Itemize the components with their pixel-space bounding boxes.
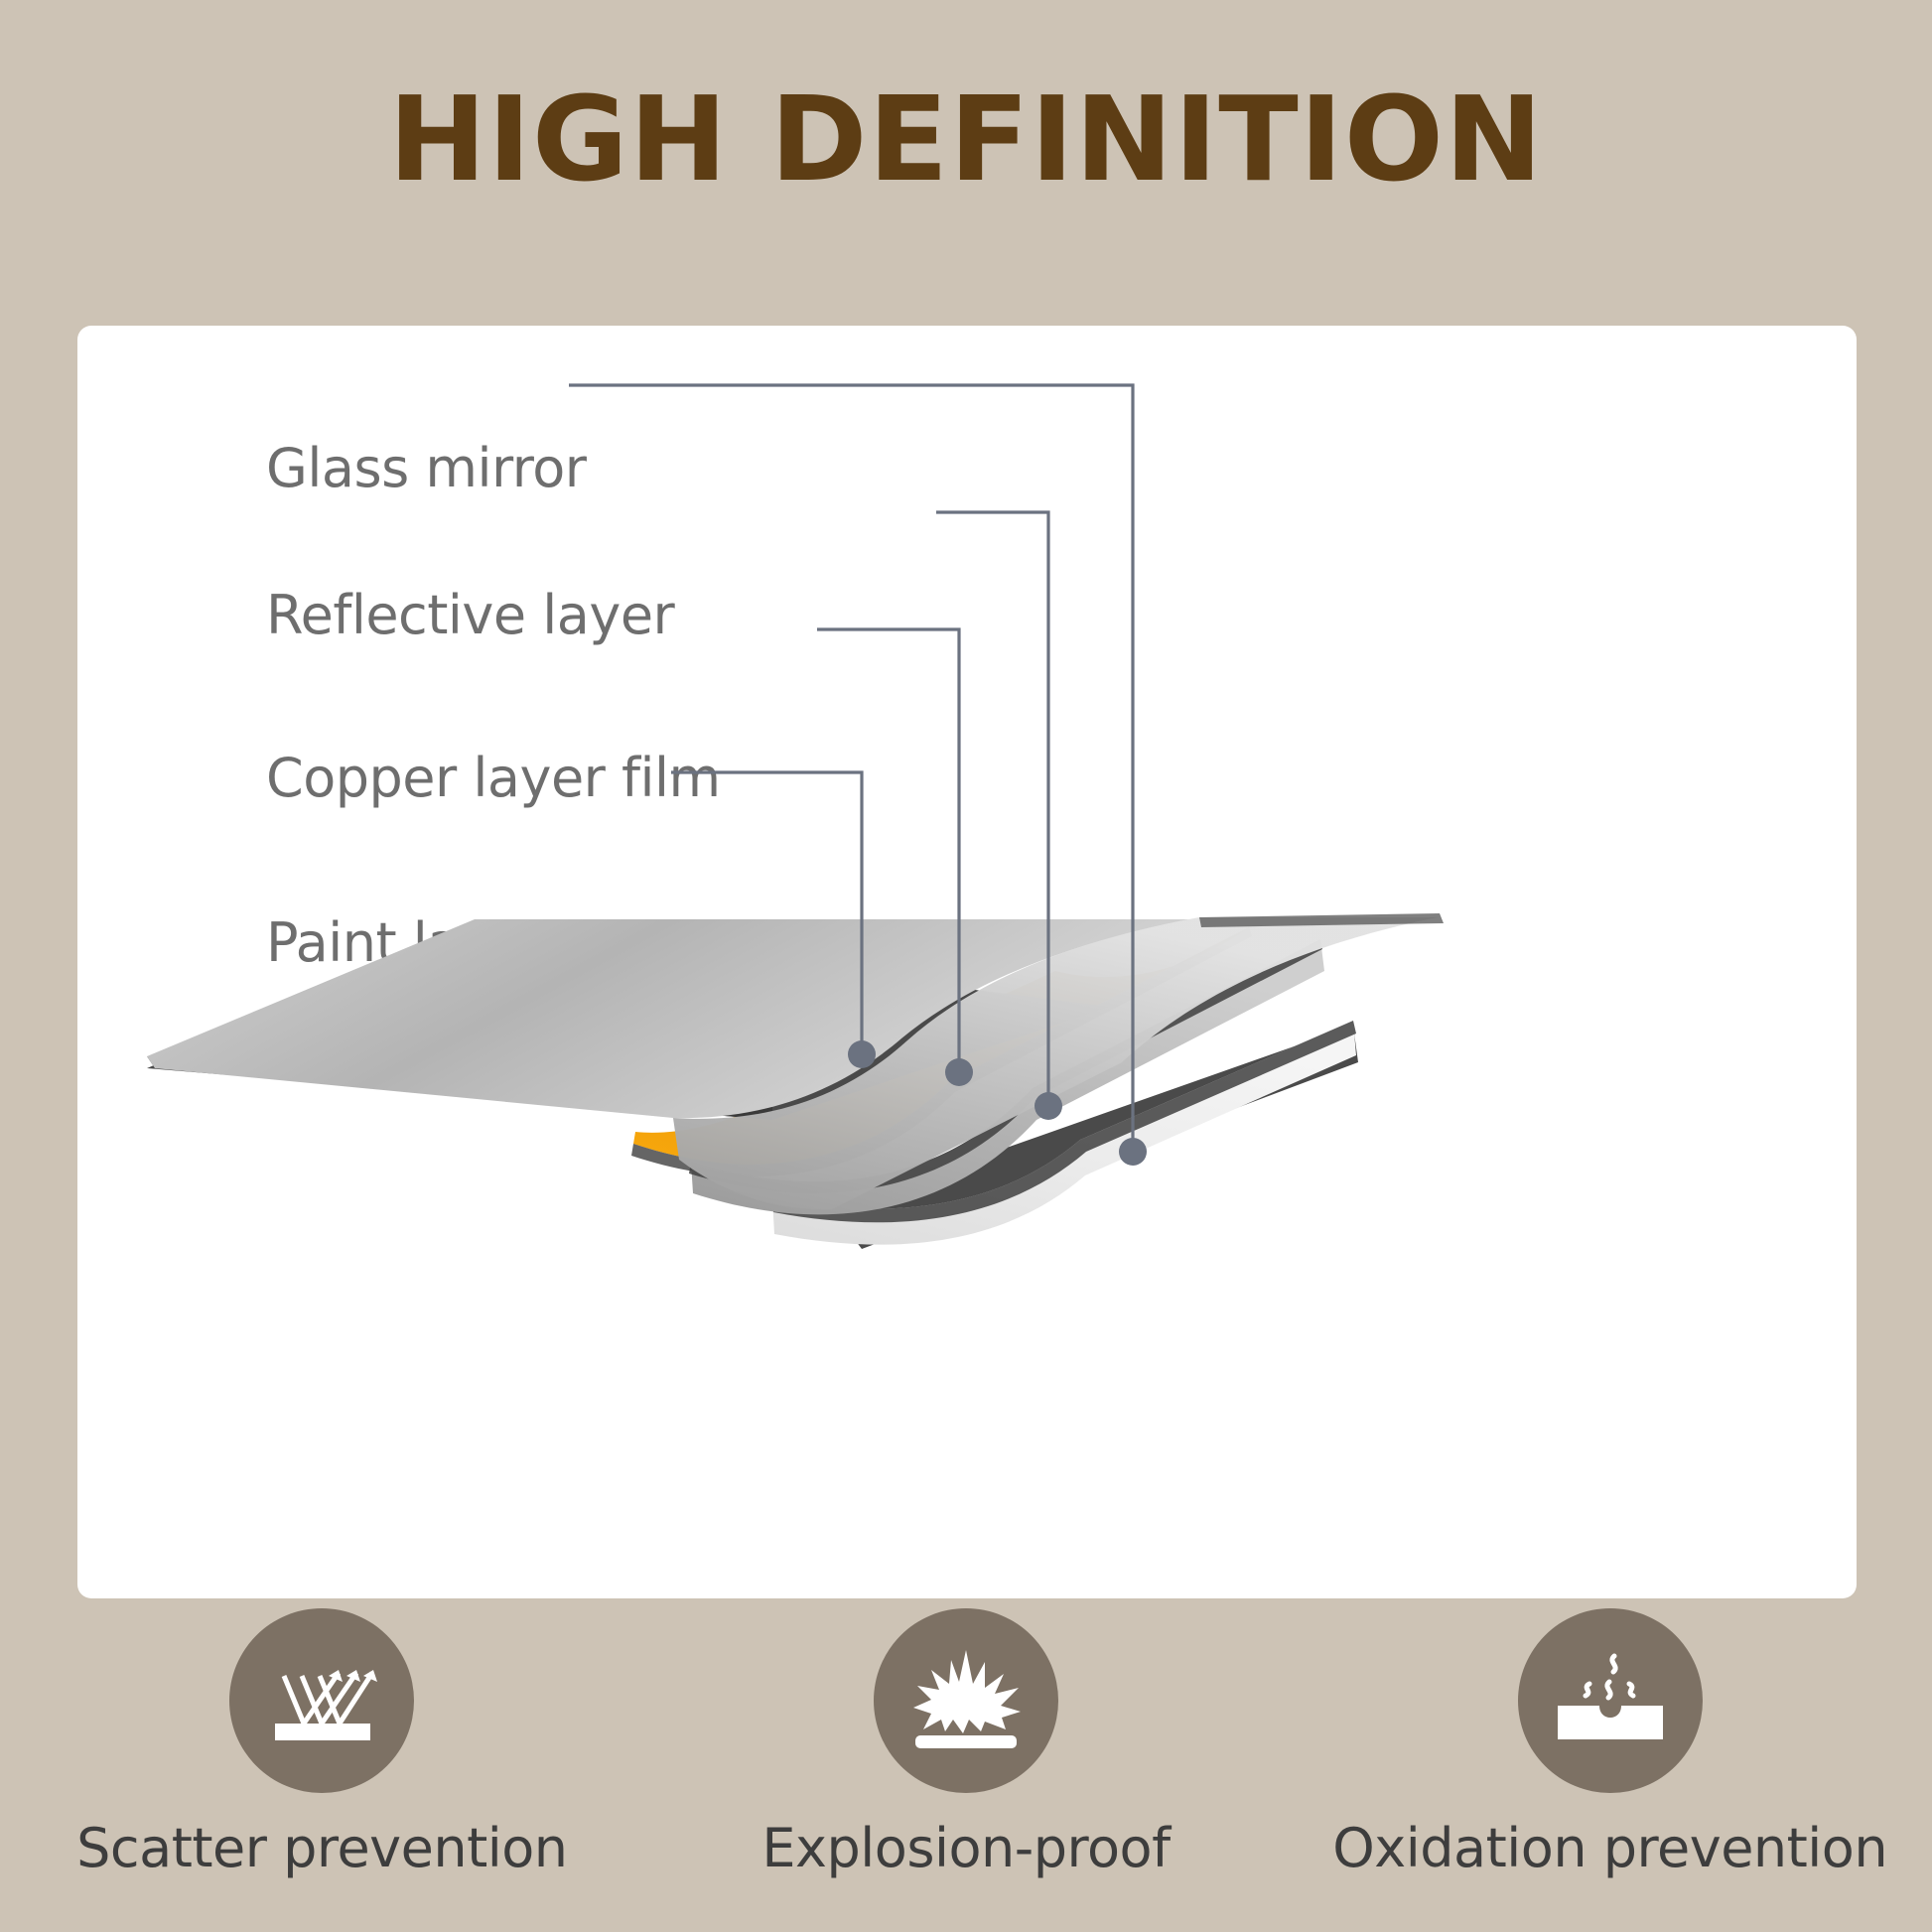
feature-label-explosion-proof: Explosion-proof: [761, 1817, 1170, 1879]
feature-list: Scatter prevention Explosion-proof: [0, 1608, 1932, 1926]
corrosion-fumes-icon: [1546, 1636, 1675, 1765]
feature-label-scatter-prevention: Scatter prevention: [76, 1817, 567, 1879]
feature-scatter-prevention[interactable]: Scatter prevention: [0, 1608, 644, 1926]
feature-explosion-proof[interactable]: Explosion-proof: [644, 1608, 1289, 1926]
callout-dot-paint-layer: [1119, 1138, 1147, 1166]
feature-icon-circle-oxidation-prevention: [1518, 1608, 1703, 1793]
feature-oxidation-prevention[interactable]: Oxidation prevention: [1288, 1608, 1932, 1926]
reflected-rays-icon: [257, 1636, 386, 1765]
explosion-burst-icon: [901, 1636, 1031, 1765]
layer-stack-illustration: [77, 326, 1857, 1598]
callout-dot-copper-layer-film: [1035, 1092, 1062, 1120]
callout-dot-glass-mirror: [848, 1040, 876, 1068]
callout-dot-reflective-layer: [945, 1058, 973, 1086]
infographic-root: HIGH DEFINITION Glass mirror Reflective …: [0, 0, 1932, 1932]
page-title: HIGH DEFINITION: [0, 75, 1932, 205]
feature-icon-circle-scatter-prevention: [229, 1608, 414, 1793]
feature-label-oxidation-prevention: Oxidation prevention: [1332, 1817, 1887, 1879]
feature-icon-circle-explosion-proof: [874, 1608, 1058, 1793]
layer-shape-glass-mirror: [147, 913, 1444, 1209]
